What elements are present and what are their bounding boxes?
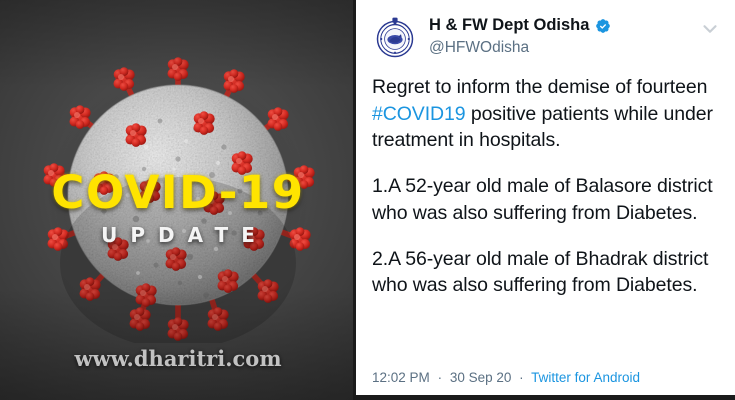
footer-separator-1: ·	[438, 370, 443, 385]
tweet-date: 30 Sep 20	[450, 370, 512, 385]
account-handle[interactable]: @HFWOdisha	[429, 38, 688, 59]
display-name[interactable]: H & FW Dept Odisha	[429, 16, 589, 36]
tweet-source[interactable]: Twitter for Android	[531, 370, 640, 385]
covid-title: COVID-19	[0, 170, 356, 215]
site-watermark: www.dharitri.com	[0, 348, 356, 369]
tweet-text: Regret to inform the demise of fourteen …	[372, 74, 721, 369]
tweet-paragraph-3: 2.A 56-year old male of Bhadrak district…	[372, 246, 721, 299]
paragraph-1-before: Regret to inform the demise of fourteen	[372, 76, 707, 98]
tweet-header: H & FW Dept Odisha @HFWOdisha	[372, 14, 721, 60]
covid-subtitle: UPDATE	[0, 225, 356, 245]
odisha-government-emblem-icon	[378, 18, 413, 57]
chevron-down-icon[interactable]	[699, 18, 721, 40]
footer-separator-2: ·	[519, 370, 524, 385]
covid-update-graphic: COVID-19 UPDATE www.dharitri.com	[0, 0, 356, 400]
hashtag-covid19[interactable]: #COVID19	[372, 103, 466, 125]
avatar[interactable]	[372, 14, 418, 60]
tweet-paragraph-2: 1.A 52-year old male of Balasore distric…	[372, 173, 721, 226]
tweet-paragraph-1: Regret to inform the demise of fourteen …	[372, 74, 721, 154]
panel-divider	[353, 0, 356, 400]
account-info: H & FW Dept Odisha @HFWOdisha	[429, 14, 688, 59]
tweet-card: H & FW Dept Odisha @HFWOdisha Regret to …	[356, 0, 735, 400]
tweet-footer: 12:02 PM · 30 Sep 20 · Twitter for Andro…	[372, 369, 721, 395]
verified-badge-icon	[595, 18, 611, 34]
display-name-row: H & FW Dept Odisha	[429, 16, 688, 36]
tweet-time: 12:02 PM	[372, 370, 430, 385]
screenshot-root: COVID-19 UPDATE www.dharitri.com	[0, 0, 735, 400]
